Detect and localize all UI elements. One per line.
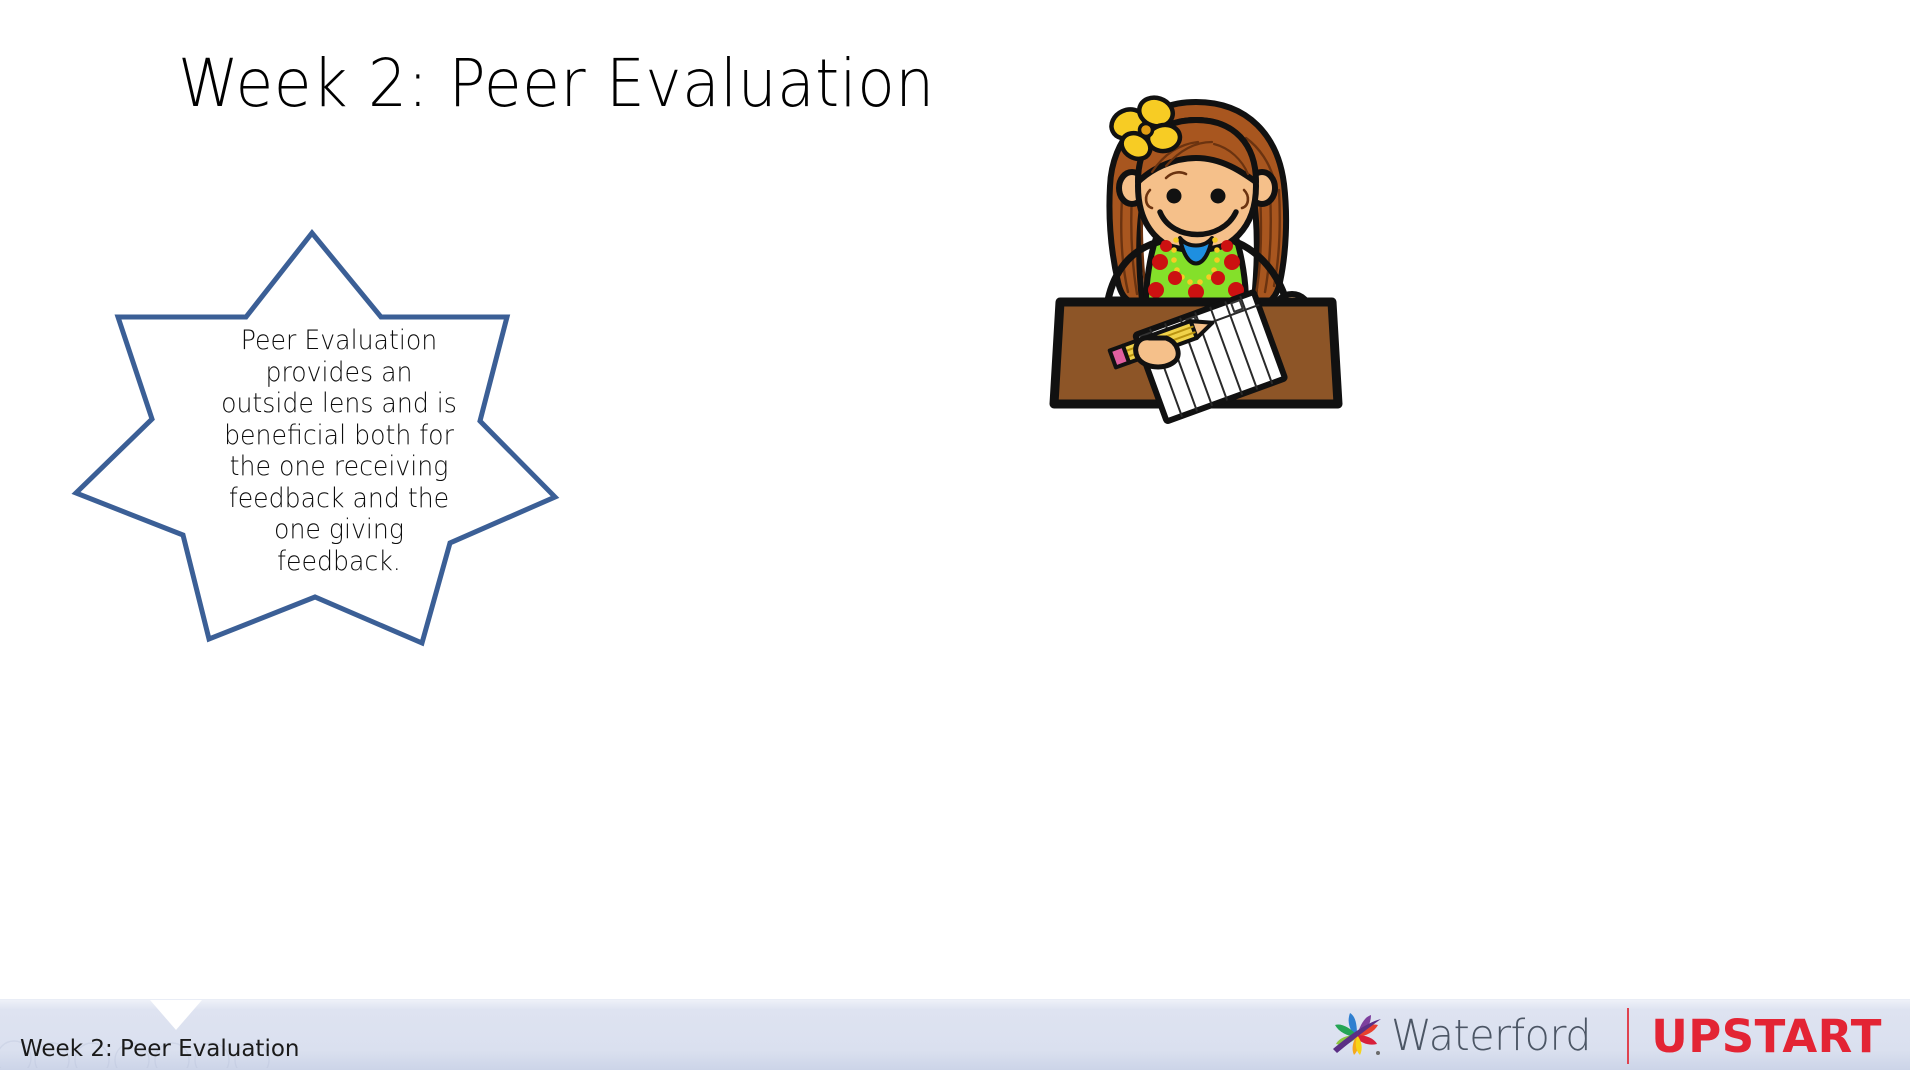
girl-writing-at-desk-illustration bbox=[1046, 86, 1346, 426]
slide-canvas: Week 2: Peer Evaluation Peer Evaluation … bbox=[0, 0, 1910, 1070]
page-title: Week 2: Peer Evaluation bbox=[178, 48, 935, 121]
waterford-starburst-logo-icon bbox=[1331, 1013, 1383, 1059]
brand-divider bbox=[1627, 1008, 1629, 1064]
brand-lockup: Waterford UPSTART bbox=[1331, 1008, 1882, 1064]
callout-text: Peer Evaluation provides an outside lens… bbox=[216, 325, 461, 577]
waterford-wordmark: Waterford bbox=[1391, 1011, 1591, 1061]
footer-bar: Week 2: Peer Evaluation bbox=[0, 999, 1910, 1070]
footer-caption: Week 2: Peer Evaluation bbox=[20, 1036, 300, 1062]
star-callout: Peer Evaluation provides an outside lens… bbox=[70, 225, 570, 650]
upstart-wordmark: UPSTART bbox=[1651, 1010, 1882, 1063]
footer-notch-triangle bbox=[150, 1000, 202, 1030]
girl-writing-icon bbox=[1046, 86, 1346, 426]
